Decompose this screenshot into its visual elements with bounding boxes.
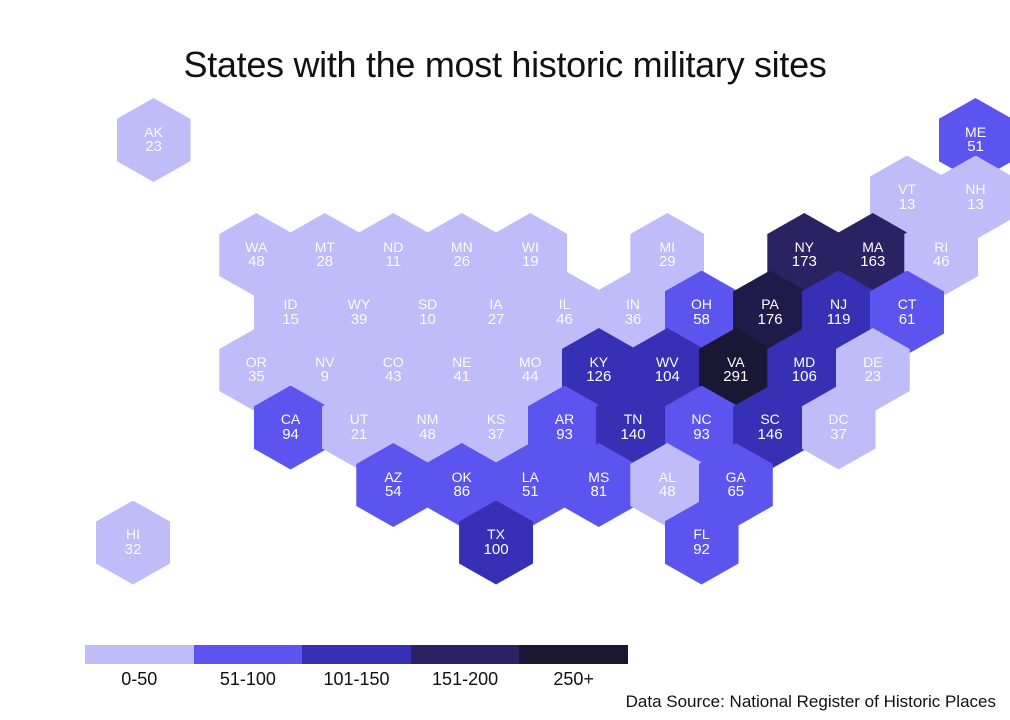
legend-swatch-4 [519, 645, 628, 664]
legend-color-bar [85, 645, 628, 664]
hex-tile-abbr: GA [726, 470, 746, 485]
hex-tile-abbr: PA [761, 297, 779, 312]
hex-tile-abbr: TN [624, 412, 643, 427]
hex-tile-abbr: ND [383, 240, 403, 255]
hex-tile-value: 32 [125, 542, 142, 558]
hex-tile-value: 27 [488, 312, 505, 328]
hex-tile-abbr: IA [489, 297, 502, 312]
hex-tile-value: 176 [758, 312, 783, 328]
hex-tile-abbr: KY [589, 355, 608, 370]
hex-tile-value: 65 [727, 484, 744, 500]
hex-tile-value: 35 [248, 369, 265, 385]
legend-swatch-3 [411, 645, 520, 664]
hex-tile-value: 48 [659, 484, 676, 500]
hex-tile-value: 140 [621, 427, 646, 443]
hex-tile-abbr: NE [452, 355, 471, 370]
hex-tile-value: 119 [827, 312, 851, 328]
legend-swatch-0 [85, 645, 194, 664]
hex-tile-abbr: NM [417, 412, 439, 427]
hex-tile-abbr: DE [863, 355, 882, 370]
hex-tile-value: 15 [282, 312, 299, 328]
hex-tile-value: 21 [351, 427, 368, 443]
hex-tile-abbr: CO [383, 355, 404, 370]
hex-tile-value: 93 [693, 427, 710, 443]
hex-tile-abbr: IL [559, 297, 571, 312]
hex-tile-value: 58 [693, 312, 710, 328]
data-source-caption: Data Source: National Register of Histor… [626, 692, 996, 712]
hex-tile-value: 173 [792, 254, 817, 270]
hex-tile-abbr: RI [934, 240, 948, 255]
hex-tile-abbr: MT [315, 240, 335, 255]
hex-tile-abbr: AR [555, 412, 574, 427]
hex-tile-abbr: MA [862, 240, 883, 255]
hex-tile-value: 54 [385, 484, 402, 500]
hex-tile-abbr: TX [487, 527, 505, 542]
hex-tile-abbr: UT [350, 412, 369, 427]
hex-tile-abbr: WI [522, 240, 539, 255]
hex-tile-value: 37 [830, 427, 847, 443]
hex-tile-value: 19 [522, 254, 539, 270]
hex-tile-value: 9 [321, 369, 329, 385]
hex-tile-hi[interactable]: HI32 [96, 501, 170, 585]
hex-tile-value: 41 [453, 369, 470, 385]
hex-tile-abbr: CA [281, 412, 300, 427]
hex-tile-abbr: WV [656, 355, 679, 370]
hex-tile-value: 106 [792, 369, 817, 385]
hex-tile-abbr: AL [659, 470, 676, 485]
legend-label-1: 51-100 [194, 666, 303, 692]
hex-tile-abbr: WA [245, 240, 267, 255]
hex-tile-abbr: NV [315, 355, 334, 370]
hex-tile-value: 28 [316, 254, 333, 270]
hex-tile-abbr: VA [727, 355, 745, 370]
legend-swatch-2 [302, 645, 411, 664]
hex-tile-abbr: IN [626, 297, 640, 312]
hex-tile-value: 51 [522, 484, 539, 500]
hex-tile-value: 94 [282, 427, 299, 443]
hex-tile-value: 86 [453, 484, 470, 500]
hex-tile-abbr: CT [898, 297, 917, 312]
hex-tile-value: 48 [419, 427, 436, 443]
hex-tile-abbr: LA [522, 470, 539, 485]
hex-tile-abbr: HI [126, 527, 140, 542]
hex-tile-value: 46 [556, 312, 573, 328]
hex-tile-abbr: WY [348, 297, 371, 312]
hex-tile-abbr: AK [144, 125, 163, 140]
hex-tile-abbr: SC [760, 412, 779, 427]
hex-tile-value: 51 [967, 139, 984, 155]
hex-tile-abbr: NC [691, 412, 711, 427]
hex-tile-abbr: DC [828, 412, 848, 427]
legend-label-4: 250+ [519, 666, 628, 692]
hex-tile-value: 146 [758, 427, 783, 443]
hex-tile-abbr: OR [246, 355, 267, 370]
hex-tile-abbr: NJ [830, 297, 847, 312]
legend-label-3: 151-200 [411, 666, 520, 692]
hex-tile-abbr: AZ [384, 470, 402, 485]
hex-tile-abbr: FL [693, 527, 709, 542]
hex-tile-abbr: MN [451, 240, 473, 255]
hex-tile-value: 100 [484, 542, 509, 558]
hex-tile-value: 291 [723, 369, 748, 385]
hex-tile-value: 39 [351, 312, 368, 328]
hex-tile-cartogram: AK23ME51VT13NH13WA48MT28ND11MN26WI19MI29… [0, 0, 1010, 640]
legend-swatch-1 [194, 645, 303, 664]
hex-tile-value: 61 [899, 312, 916, 328]
hex-tile-abbr: MD [793, 355, 815, 370]
hex-tile-value: 163 [860, 254, 885, 270]
hex-tile-value: 11 [386, 254, 402, 270]
hex-tile-value: 23 [145, 139, 162, 155]
hex-tile-value: 10 [419, 312, 436, 328]
hex-tile-value: 104 [655, 369, 680, 385]
hex-tile-value: 44 [522, 369, 539, 385]
hex-tile-value: 23 [864, 369, 881, 385]
legend-label-2: 101-150 [302, 666, 411, 692]
hex-tile-abbr: MS [588, 470, 609, 485]
hex-tile-value: 48 [248, 254, 265, 270]
hex-tile-abbr: ID [284, 297, 298, 312]
legend-label-0: 0-50 [85, 666, 194, 692]
hex-tile-abbr: OK [452, 470, 472, 485]
hex-tile-value: 81 [590, 484, 607, 500]
hex-tile-abbr: SD [418, 297, 437, 312]
hex-tile-abbr: KS [487, 412, 506, 427]
hex-tile-value: 26 [453, 254, 470, 270]
legend-labels: 0-5051-100101-150151-200250+ [85, 666, 628, 692]
hex-tile-value: 37 [488, 427, 505, 443]
hex-tile-ak[interactable]: AK23 [117, 98, 191, 182]
hex-tile-abbr: ME [965, 125, 986, 140]
hex-tile-value: 13 [967, 197, 984, 213]
hex-tile-abbr: MO [519, 355, 542, 370]
hex-tile-value: 29 [659, 254, 676, 270]
hex-tile-value: 13 [899, 197, 916, 213]
hex-tile-value: 126 [586, 369, 611, 385]
hex-tile-value: 36 [625, 312, 642, 328]
hex-tile-abbr: OH [691, 297, 712, 312]
hex-tile-abbr: MI [660, 240, 676, 255]
hex-tile-abbr: NH [965, 182, 985, 197]
hex-tile-value: 43 [385, 369, 402, 385]
hex-tile-abbr: VT [898, 182, 916, 197]
hex-tile-abbr: NY [795, 240, 814, 255]
hex-tile-value: 93 [556, 427, 573, 443]
hex-tile-value: 92 [693, 542, 710, 558]
hex-tile-value: 46 [933, 254, 950, 270]
